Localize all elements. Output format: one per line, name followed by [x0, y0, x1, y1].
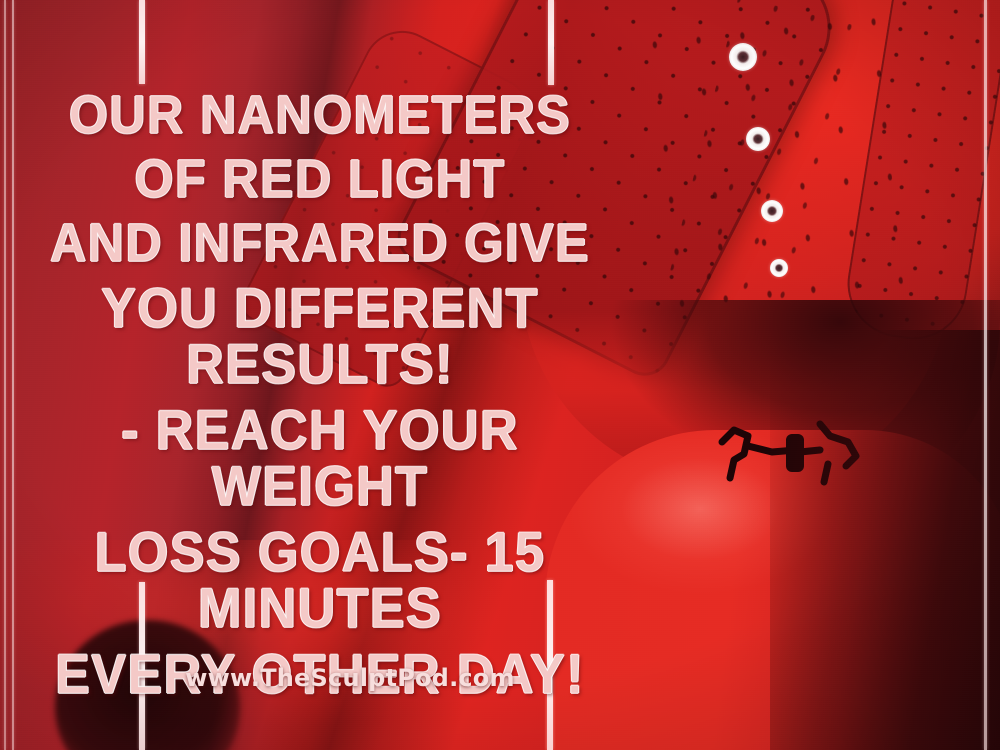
headline-line-6: LOSS GOALS- 15 MINUTES: [22, 524, 617, 636]
headline-line-4: YOU DIFFERENT RESULTS!: [22, 280, 617, 392]
divider-line-top-right: [548, 0, 554, 85]
website-url[interactable]: www.TheSculptPod.com: [0, 664, 700, 692]
headline-line-3: AND INFRARED GIVE: [22, 216, 617, 270]
divider-line-top-left: [139, 0, 145, 84]
headline-line-2: OF RED LIGHT: [22, 152, 617, 206]
headline-block: OUR NANOMETERS OF RED LIGHT AND INFRARED…: [0, 88, 640, 712]
divider-line-edge-right: [984, 0, 987, 750]
headline-line-5: - REACH YOUR WEIGHT: [22, 402, 617, 514]
headline-line-1: OUR NANOMETERS: [22, 88, 617, 142]
poster-canvas: OUR NANOMETERS OF RED LIGHT AND INFRARED…: [0, 0, 1000, 750]
